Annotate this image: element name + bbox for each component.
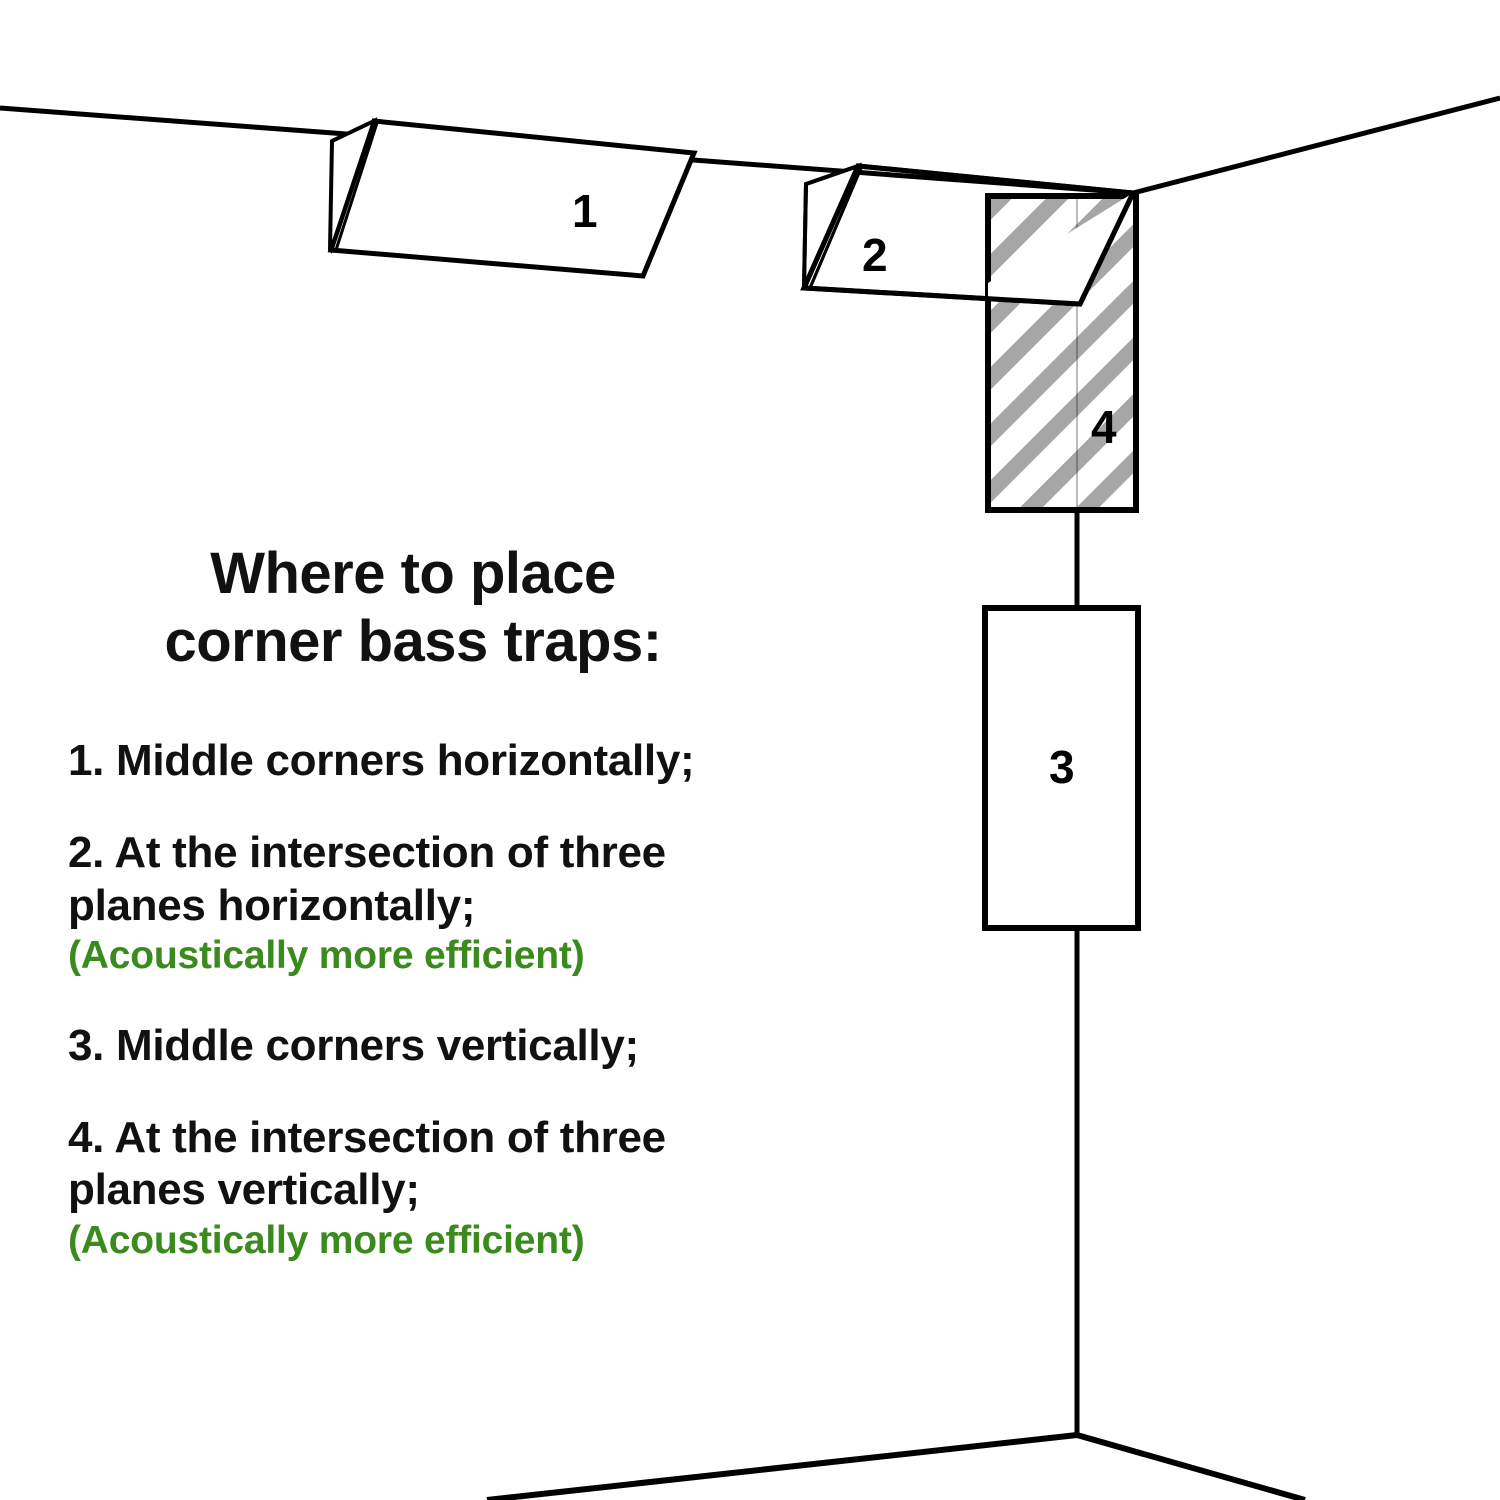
legend-item-4-note: (Acoustically more efficient)	[68, 1217, 758, 1265]
legend-item-1: 1. Middle corners horizontally;	[68, 735, 758, 787]
legend-item-1-text: 1. Middle corners horizontally;	[68, 736, 694, 785]
legend-item-2-text: 2. At the intersection of three planes h…	[68, 828, 666, 929]
bass-trap-1	[330, 121, 694, 276]
legend-item-3-text: 3. Middle corners vertically;	[68, 1021, 639, 1070]
trap-label-2: 2	[862, 232, 888, 278]
floor-line-right	[1077, 1435, 1305, 1500]
page-title-line-1: Where to place	[210, 541, 616, 606]
page-title-line-2: corner bass traps:	[164, 609, 661, 674]
legend-item-3: 3. Middle corners vertically;	[68, 1020, 758, 1072]
bass-trap-2	[804, 166, 1133, 304]
legend-item-4-text: 4. At the intersection of three planes v…	[68, 1113, 666, 1214]
legend-item-2-note: (Acoustically more efficient)	[68, 932, 758, 980]
legend-item-4: 4. At the intersection of three planes v…	[68, 1112, 758, 1264]
floor-line-left	[487, 1435, 1077, 1500]
trap-label-4: 4	[1091, 404, 1117, 450]
page-title: Where to place corner bass traps:	[68, 540, 758, 677]
legend-block: Where to place corner bass traps: 1. Mid…	[68, 540, 758, 1264]
trap-label-3: 3	[1049, 744, 1075, 790]
legend-item-2: 2. At the intersection of three planes h…	[68, 827, 758, 979]
bass-trap-1-body	[331, 121, 694, 276]
diagram-canvas: 1 2 3 4 Where to place corner bass traps…	[0, 0, 1500, 1500]
ceiling-line-right	[1133, 98, 1500, 193]
trap-label-1: 1	[572, 188, 598, 234]
